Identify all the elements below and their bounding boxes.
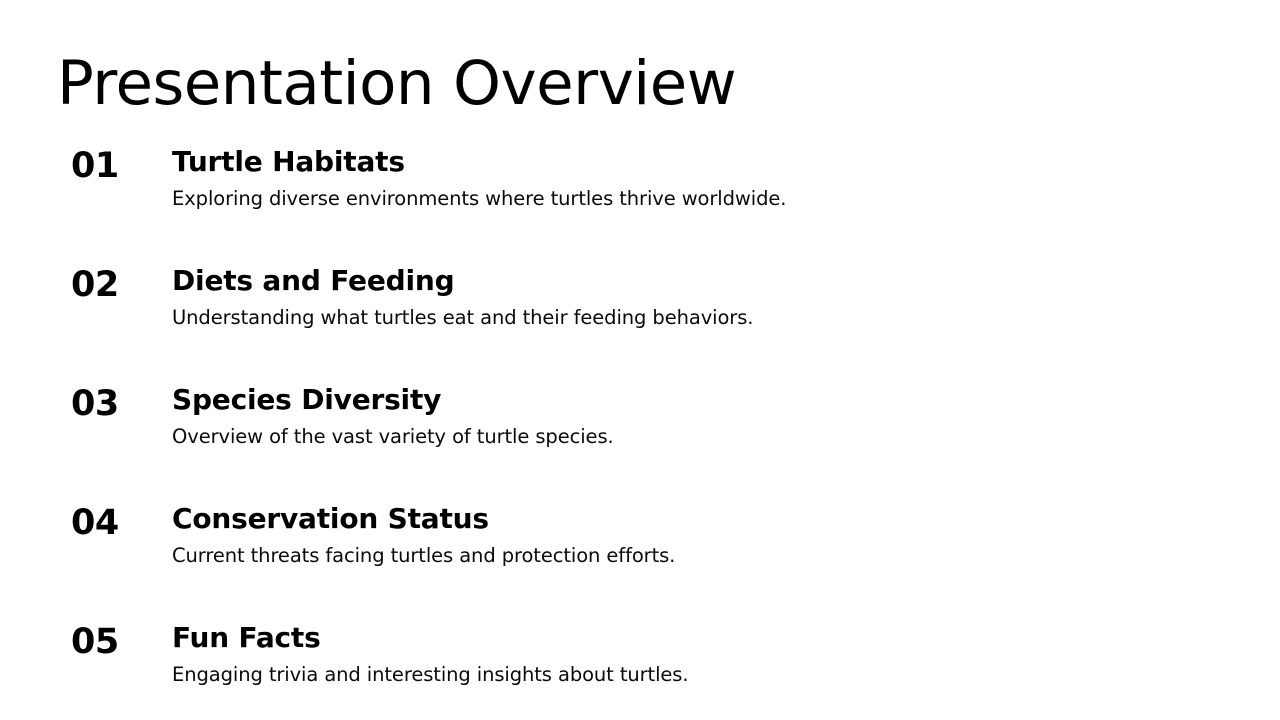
item-number: 04: [71, 506, 119, 541]
list-item[interactable]: 02 Diets and Feeding Understanding what …: [0, 264, 1280, 383]
item-description: Understanding what turtles eat and their…: [172, 306, 1240, 330]
item-body: Conservation Status Current threats faci…: [172, 502, 1240, 569]
list-item[interactable]: 01 Turtle Habitats Exploring diverse env…: [0, 145, 1280, 264]
list-item[interactable]: 04 Conservation Status Current threats f…: [0, 502, 1280, 621]
item-description: Current threats facing turtles and prote…: [172, 544, 1240, 568]
presentation-slide: Presentation Overview 01 Turtle Habitats…: [0, 0, 1280, 720]
page-title: Presentation Overview: [57, 53, 736, 114]
list-item[interactable]: 05 Fun Facts Engaging trivia and interes…: [0, 621, 1280, 720]
list-item[interactable]: 03 Species Diversity Overview of the vas…: [0, 383, 1280, 502]
item-body: Fun Facts Engaging trivia and interestin…: [172, 621, 1240, 688]
item-heading: Conservation Status: [172, 502, 1240, 536]
item-heading: Species Diversity: [172, 383, 1240, 417]
item-number: 01: [71, 149, 119, 184]
item-number: 03: [71, 387, 119, 422]
agenda-list: 01 Turtle Habitats Exploring diverse env…: [0, 145, 1280, 720]
item-body: Species Diversity Overview of the vast v…: [172, 383, 1240, 450]
item-heading: Fun Facts: [172, 621, 1240, 655]
item-heading: Diets and Feeding: [172, 264, 1240, 298]
item-description: Engaging trivia and interesting insights…: [172, 663, 1240, 687]
item-number: 02: [71, 268, 119, 303]
item-number: 05: [71, 625, 119, 660]
item-body: Turtle Habitats Exploring diverse enviro…: [172, 145, 1240, 212]
item-description: Exploring diverse environments where tur…: [172, 187, 1240, 211]
item-heading: Turtle Habitats: [172, 145, 1240, 179]
item-description: Overview of the vast variety of turtle s…: [172, 425, 1240, 449]
item-body: Diets and Feeding Understanding what tur…: [172, 264, 1240, 331]
